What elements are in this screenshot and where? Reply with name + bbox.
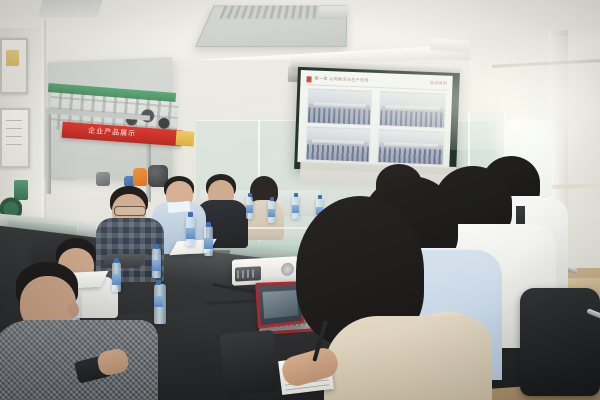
display-frame-post [46, 114, 51, 194]
banner-text: 企业产品展示 [88, 126, 137, 139]
water-bottle [204, 226, 213, 256]
water-bottle [246, 196, 253, 219]
air-conditioner-vent [316, 6, 349, 19]
banner-end-cap [175, 130, 194, 146]
framed-certificate [0, 38, 28, 94]
person-man-houndstooth-shirt [0, 262, 150, 400]
ceiling-light-slot [37, 0, 102, 18]
black-shoulder-bag [219, 330, 278, 396]
light-glare [300, 30, 530, 150]
product-grey-fitting [96, 172, 110, 186]
projector-ports [237, 269, 257, 278]
laptop-screen-content [263, 290, 299, 319]
glasses-icon [114, 206, 146, 216]
meeting-room-photo: 企业产品展示 · · · · · · 第一章 公司概况与生产现场 培训资料 [0, 0, 600, 400]
office-chair[interactable] [520, 288, 600, 400]
water-bottle [152, 248, 161, 278]
water-bottle [186, 216, 195, 246]
water-bottle [154, 284, 166, 324]
certificate-seal [6, 50, 19, 66]
air-conditioner-grille [219, 6, 326, 19]
ear [68, 302, 79, 318]
water-bottle [268, 200, 275, 223]
framed-certificate [0, 108, 30, 168]
projector-lens-icon [281, 262, 294, 276]
torso [324, 316, 492, 400]
product-orange-valve [133, 168, 147, 186]
